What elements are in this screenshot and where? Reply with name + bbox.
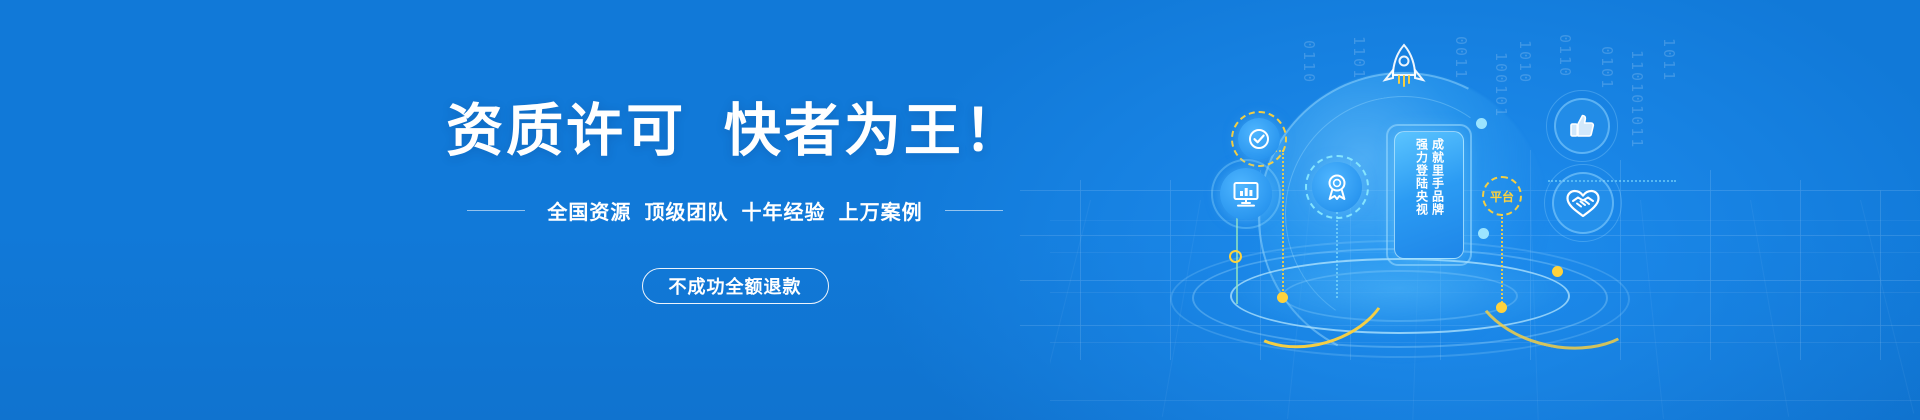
binary-digits-2: 0110 bbox=[1556, 34, 1574, 78]
node-dot-dome bbox=[1476, 118, 1487, 129]
node-dot-right bbox=[1552, 266, 1563, 277]
promo-banner: 1010 0110 0101 0011 1011 100101 11010101… bbox=[0, 0, 1920, 420]
binary-digits-7: 110101011 bbox=[1628, 50, 1646, 149]
page-title: 资质许可 快者为王！ bbox=[0, 100, 1470, 164]
node-dot-monitor bbox=[1229, 250, 1242, 263]
subtitle-row: 全国资源 顶级团队 十年经验 上万案例 bbox=[0, 196, 1470, 225]
subtitle-rule-left bbox=[467, 210, 525, 211]
refund-guarantee-button[interactable]: 不成功全额退款 bbox=[642, 268, 829, 304]
binary-digits-4: 0011 bbox=[1452, 36, 1470, 80]
binary-digits-1: 1010 bbox=[1516, 40, 1534, 84]
node-dot-chip bbox=[1496, 302, 1507, 313]
binary-digits-8: 0110 bbox=[1300, 40, 1318, 84]
subtitle-rule-right bbox=[945, 210, 1003, 211]
connector-line-chip bbox=[1501, 214, 1503, 310]
subtitle-text: 全国资源 顶级团队 十年经验 上万案例 bbox=[547, 196, 922, 225]
binary-digits-9: 1101 bbox=[1350, 36, 1368, 80]
node-dot-stage-mid bbox=[1478, 228, 1489, 239]
binary-digits-3: 0101 bbox=[1598, 46, 1616, 90]
rocket-icon bbox=[1382, 42, 1426, 100]
binary-digits-5: 1011 bbox=[1660, 38, 1678, 82]
cta-row: 不成功全额退款 bbox=[0, 268, 1470, 304]
thumbs-up-ring bbox=[1546, 90, 1618, 162]
platform-chip: 平台 bbox=[1482, 176, 1522, 216]
handshake-ring bbox=[1544, 164, 1622, 242]
binary-digits-6: 100101 bbox=[1492, 52, 1510, 118]
